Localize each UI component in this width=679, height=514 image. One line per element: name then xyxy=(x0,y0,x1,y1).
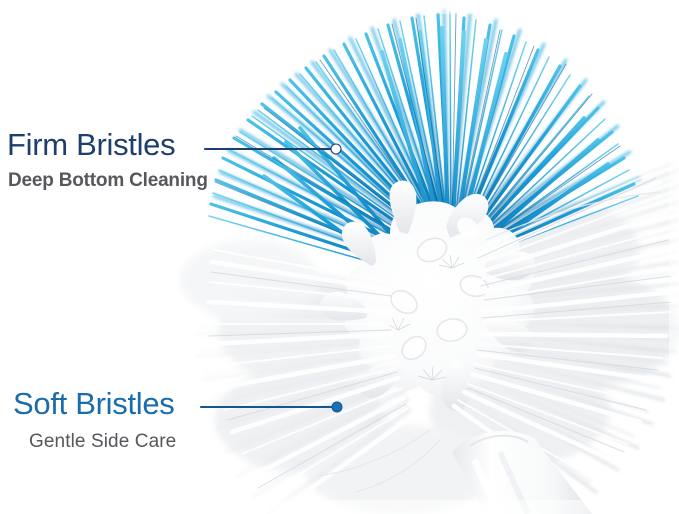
callout-firm-title: Firm Bristles xyxy=(7,129,208,160)
callout-soft-subtitle: Gentle Side Care xyxy=(29,432,176,451)
product-infographic: Firm Bristles Deep Bottom Cleaning Soft … xyxy=(0,0,679,514)
callout-firm-subtitle: Deep Bottom Cleaning xyxy=(8,171,208,190)
marker-dot-soft[interactable] xyxy=(332,402,342,412)
marker-dot-firm[interactable] xyxy=(331,144,341,154)
callout-soft-bristles: Soft Bristles Gentle Side Care xyxy=(13,388,176,451)
callout-soft-title: Soft Bristles xyxy=(13,388,176,419)
callout-firm-bristles: Firm Bristles Deep Bottom Cleaning xyxy=(7,129,208,190)
